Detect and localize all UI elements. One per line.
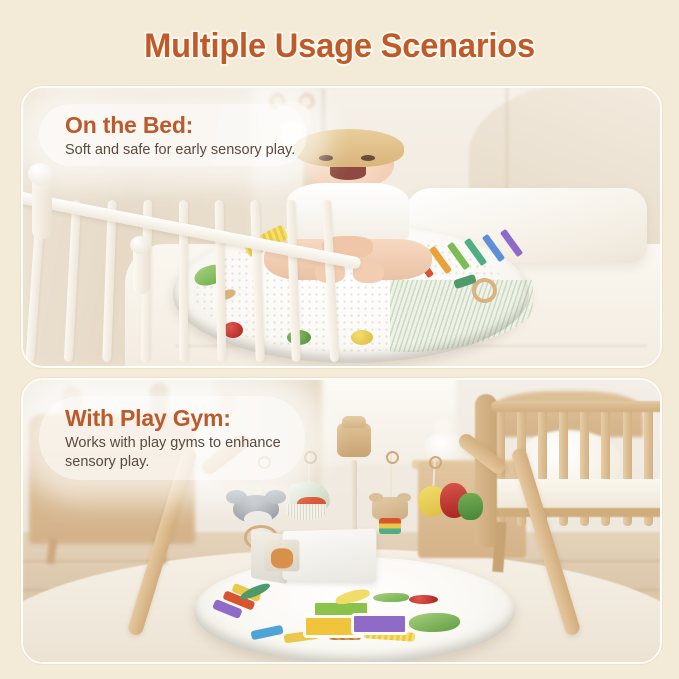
toy-green-cloth [409,613,460,632]
page-title-wrap: Multiple Usage Scenarios [0,26,679,66]
gym-hub [337,423,371,457]
card-body: Soft and safe for early sensory play. [65,141,315,160]
crib-slats [25,200,360,362]
toy-koala-ear [265,490,286,504]
toy-red-ball [409,595,438,605]
crib-finial [28,163,52,185]
mirror-fox-graphic [271,548,293,568]
toy-bear-ear [397,493,411,502]
gym-hub-cap [342,416,366,428]
mat-mirror-panel [283,528,377,582]
toy-green-leaf [373,593,408,603]
photo-with-play-gym: With Play Gym: Works with play gyms to e… [23,380,660,662]
card-body: Works with play gyms to enhance sensory … [65,434,287,472]
toy-fruit-green [458,493,483,521]
scenario-card-on-the-bed: On the Bed: Soft and safe for early sens… [21,86,662,368]
toy-bear-ear [369,493,383,502]
card-heading: With Play Gym: [65,404,287,432]
toy-card-purple [351,613,408,635]
crib-rail [23,163,367,366]
toy-rainbow-block [379,518,400,534]
toy-bird-tail [286,504,325,520]
card-text-block: On the Bed: Soft and safe for early sens… [65,111,315,160]
crib-top-rail [491,401,660,412]
card-heading: On the Bed: [65,111,315,139]
card-text-block: With Play Gym: Works with play gyms to e… [65,404,287,472]
promo-page: Multiple Usage Scenarios [0,0,679,679]
scenario-card-with-play-gym: With Play Gym: Works with play gyms to e… [21,378,662,664]
gym-arc-right [456,431,509,477]
page-title: Multiple Usage Scenarios [144,26,535,66]
photo-on-the-bed: On the Bed: Soft and safe for early sens… [23,88,660,366]
